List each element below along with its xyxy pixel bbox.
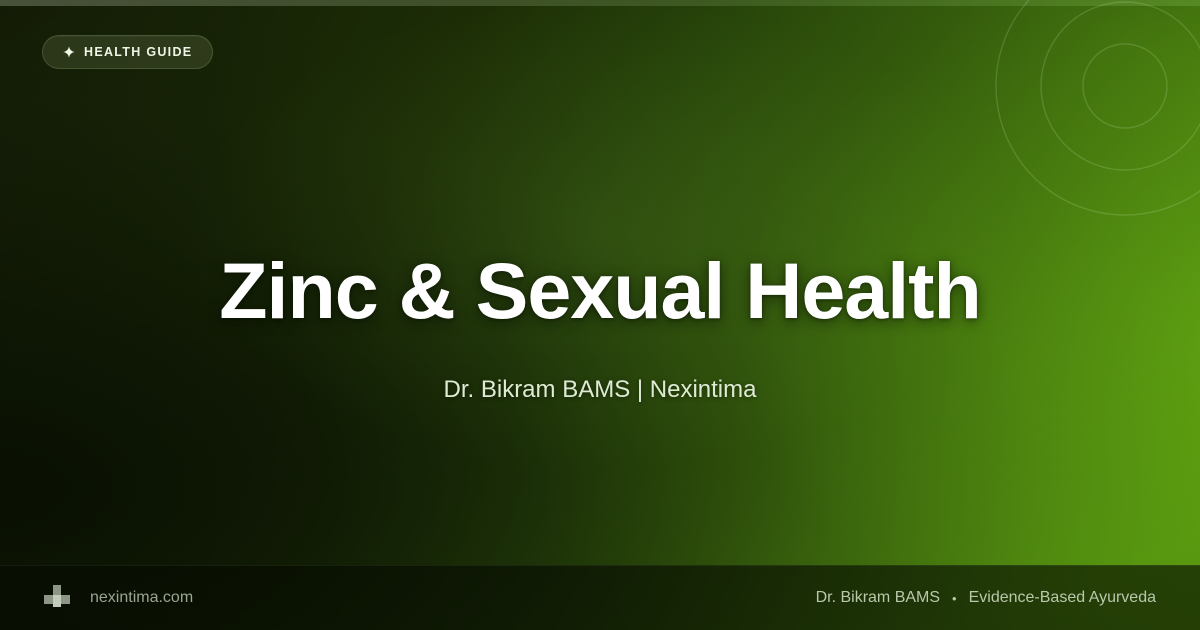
top-edge-sheen (0, 0, 1200, 6)
sparkle-icon (63, 46, 75, 58)
page-subtitle: Dr. Bikram BAMS | Nexintima (0, 374, 1200, 405)
social-card: HEALTH GUIDE Zinc & Sexual Health Dr. Bi… (0, 0, 1200, 630)
footer-separator-dot: • (952, 592, 957, 605)
footer-bar: nexintima.com Dr. Bikram BAMS • Evidence… (0, 565, 1200, 630)
health-guide-badge-label: HEALTH GUIDE (84, 46, 192, 59)
footer-meta: Dr. Bikram BAMS • Evidence-Based Ayurved… (816, 590, 1156, 606)
footer-site-url[interactable]: nexintima.com (90, 590, 193, 606)
footer-tagline: Evidence-Based Ayurveda (969, 590, 1156, 606)
page-title: Zinc & Sexual Health (0, 248, 1200, 333)
footer-brand[interactable]: nexintima.com (44, 585, 193, 611)
health-guide-badge[interactable]: HEALTH GUIDE (42, 35, 213, 69)
hero-block: Zinc & Sexual Health Dr. Bikram BAMS | N… (0, 248, 1200, 406)
nexintima-logo-icon (44, 585, 74, 611)
footer-author: Dr. Bikram BAMS (816, 590, 940, 606)
